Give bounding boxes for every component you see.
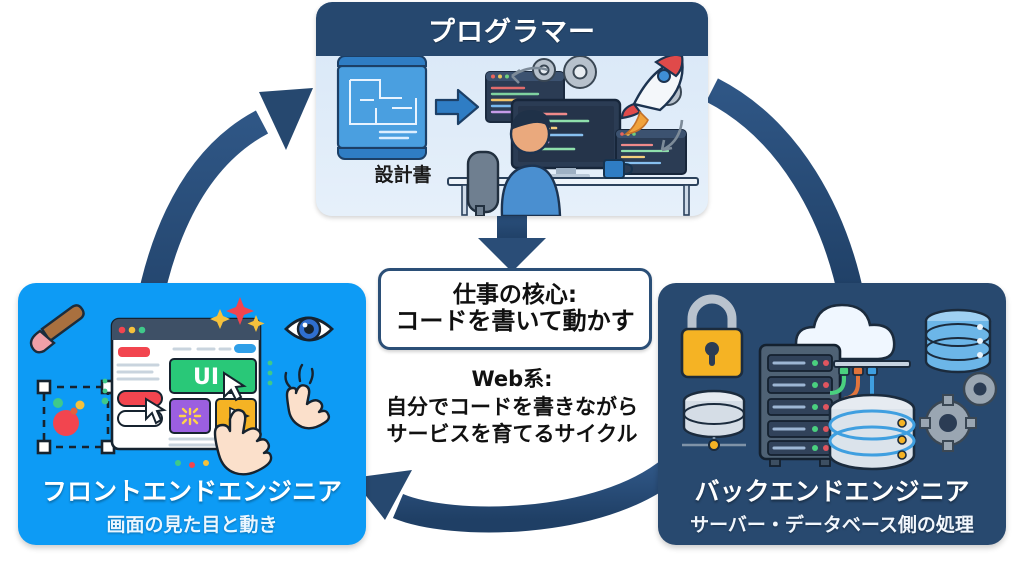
- office-chair-icon: [468, 152, 498, 216]
- cycle-note: Web系: 自分でコードを書きながら サービスを育てるサイクル: [352, 366, 672, 449]
- arrow-backend-to-frontend: [352, 468, 672, 520]
- core-line-2: コードを書いて動かす: [395, 308, 634, 335]
- backend-labels: バックエンドエンジニア サーバー・データベース側の処理: [658, 472, 1006, 537]
- core-line-1: 仕事の核心:: [453, 283, 577, 309]
- programmer-scene-svg: [316, 56, 708, 216]
- backend-illustration: [658, 283, 1006, 475]
- database-stack-icon: [830, 395, 914, 469]
- frontend-subtitle: 画面の見た目と動き: [18, 510, 366, 537]
- database-icon: [682, 391, 746, 450]
- cycle-note-line-3: サービスを育てるサイクル: [352, 421, 672, 449]
- backend-title: バックエンドエンジニア: [658, 472, 1006, 508]
- eye-icon: [286, 318, 332, 340]
- programmer-illustration: 設計書: [316, 56, 708, 216]
- database-secondary-icon: [926, 310, 990, 372]
- padlock-icon: [682, 299, 742, 377]
- gear-icon: [920, 373, 996, 451]
- tap-gesture-icon: [286, 365, 329, 428]
- selection-box-icon: [38, 381, 114, 453]
- backend-subtitle: サーバー・データベース側の処理: [658, 510, 1006, 537]
- rocket-icon: [622, 56, 683, 134]
- backend-card[interactable]: バックエンドエンジニア サーバー・データベース側の処理: [658, 283, 1006, 545]
- arrow-right-icon: [436, 90, 478, 124]
- programmer-title: プログラマー: [428, 10, 596, 49]
- frontend-title: フロントエンドエンジニア: [18, 472, 366, 508]
- frontend-illustration: UI: [18, 283, 366, 478]
- paintbrush-icon: [31, 305, 84, 352]
- frontend-labels: フロントエンドエンジニア 画面の見た目と動き: [18, 472, 366, 537]
- cycle-note-line-1: Web系:: [352, 366, 672, 394]
- programmer-card-header: プログラマー: [316, 2, 708, 56]
- cycle-note-line-2: 自分でコードを書きながら: [352, 394, 672, 422]
- frontend-card[interactable]: UI: [18, 283, 366, 545]
- loading-spinner-icon: [170, 399, 210, 433]
- programmer-card[interactable]: プログラマー: [316, 2, 708, 216]
- blueprint-icon: [338, 56, 426, 159]
- server-rack-icon: [760, 345, 840, 466]
- core-message-box: 仕事の核心: コードを書いて動かす: [378, 268, 652, 350]
- ui-button-label: UI: [193, 365, 219, 390]
- blueprint-label: 設計書: [348, 160, 458, 187]
- ui-button[interactable]: UI: [170, 359, 256, 393]
- diagram-canvas: プログラマー: [0, 0, 1024, 572]
- monitor-secondary-icon: [616, 130, 686, 174]
